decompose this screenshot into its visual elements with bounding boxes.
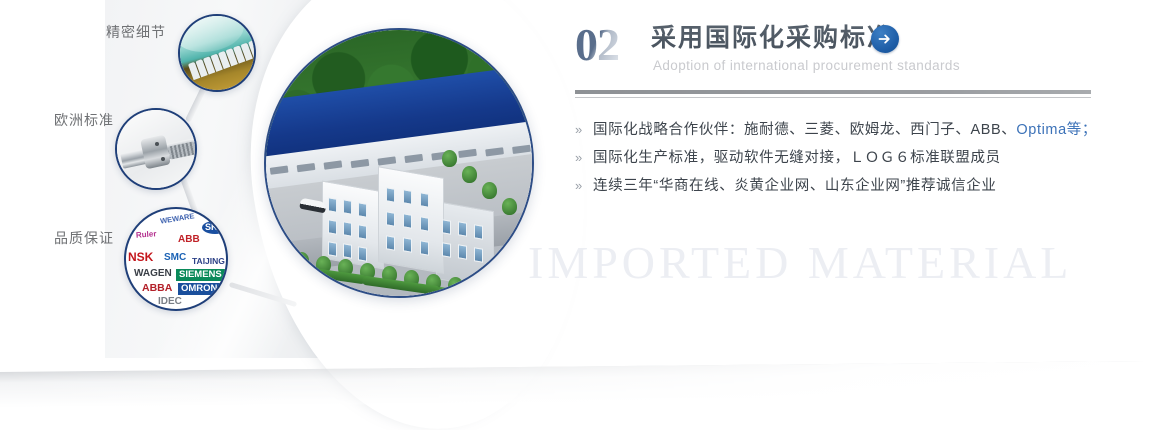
arrow-right-icon[interactable] bbox=[871, 25, 899, 53]
side-label-quality-assurance: 品质保证 bbox=[54, 228, 114, 248]
gear-macro-photo-bubble bbox=[178, 14, 256, 92]
photo-office-window bbox=[420, 240, 429, 256]
bullet-text-highlight: Optima等； bbox=[1016, 122, 1097, 138]
photo-office-window bbox=[386, 187, 395, 203]
brand-logo-weware: WEWARE bbox=[160, 212, 195, 225]
brand-logo-nsk: NSK bbox=[128, 251, 153, 263]
photo-factory-window bbox=[512, 144, 531, 153]
photo-office-window bbox=[458, 245, 467, 261]
photo-office-window bbox=[328, 241, 337, 257]
bullet-text: 国际化生产标准，驱动软件无缝对接，ＬＯＧ６标准联盟成员 bbox=[593, 146, 1001, 167]
photo-office-window bbox=[403, 190, 412, 206]
section-header: 02 采用国际化采购标准 Adoption of international p… bbox=[575, 20, 1095, 94]
brand-logo-idec: IDEC bbox=[158, 297, 182, 307]
divider-thin-line bbox=[575, 97, 1091, 98]
bullet-text: 国际化战略合作伙伴：施耐德、三菱、欧姆龙、西门子、ABB、Optima等； bbox=[593, 118, 1097, 139]
bottom-shadow-band bbox=[0, 361, 1150, 408]
brand-logo-siemens: SIEMENS bbox=[176, 269, 225, 281]
brand-logo-taijing: TAIJING bbox=[192, 257, 225, 266]
brand-logo-sko: SKO bbox=[202, 221, 228, 234]
bullet-text-main: 国际化生产标准，驱动软件无缝对接，ＬＯＧ６标准联盟成员 bbox=[593, 150, 1001, 166]
photo-factory-window bbox=[324, 161, 343, 170]
chevron-right-icon: » bbox=[575, 123, 593, 136]
section-number: 02 bbox=[575, 22, 619, 68]
photo-office-window bbox=[458, 222, 467, 238]
brand-logo-cloud-bubble: WEWARESKORulerABBNSKSMCTAIJINGWAGENSIEME… bbox=[124, 207, 228, 311]
photo-office-window bbox=[420, 216, 429, 232]
photo-office-window bbox=[474, 247, 483, 263]
content-column: 02 采用国际化采购标准 Adoption of international p… bbox=[575, 20, 1095, 94]
ball-screw-photo-bubble bbox=[115, 108, 197, 190]
photo-office-window bbox=[420, 192, 429, 208]
bullet-text-main: 连续三年“华商在线、炎黄企业网、山东企业网”推荐诚信企业 bbox=[593, 178, 996, 194]
photo-office-window bbox=[328, 197, 337, 213]
photo-office-window bbox=[358, 224, 367, 240]
photo-office-window bbox=[386, 235, 395, 251]
photo-office-window bbox=[358, 202, 367, 218]
photo-tree bbox=[462, 166, 477, 183]
brand-logo-abb: ABB bbox=[178, 235, 200, 245]
photo-tree bbox=[442, 150, 457, 167]
side-label-european-standard: 欧洲标准 bbox=[54, 110, 114, 130]
brand-logo-ruler: Ruler bbox=[136, 230, 157, 239]
photo-factory-window bbox=[485, 147, 504, 156]
brand-logo-smc: SMC bbox=[164, 253, 186, 263]
brand-logo-wagen: WAGEN bbox=[134, 269, 172, 279]
brand-logo-list: WEWARESKORulerABBNSKSMCTAIJINGWAGENSIEME… bbox=[126, 209, 226, 309]
photo-office-window bbox=[386, 211, 395, 227]
photo-office-window bbox=[403, 238, 412, 254]
section-title-cn: 采用国际化采购标准 bbox=[651, 22, 894, 55]
bullet-text: 连续三年“华商在线、炎黄企业网、山东企业网”推荐诚信企业 bbox=[593, 174, 996, 195]
photo-office-window bbox=[403, 214, 412, 230]
photo-office-window bbox=[474, 224, 483, 240]
chevron-right-icon: » bbox=[575, 179, 593, 192]
photo-factory-window bbox=[458, 149, 477, 158]
photo-factory-window bbox=[351, 158, 370, 167]
shaft-hole-b bbox=[161, 157, 165, 161]
photo-office-window bbox=[442, 242, 451, 258]
chevron-right-icon: » bbox=[575, 151, 593, 164]
header-divider bbox=[575, 90, 1091, 98]
section-title-en: Adoption of international procurement st… bbox=[653, 58, 960, 73]
factory-aerial-photo bbox=[264, 28, 534, 298]
brand-logo-omron: OMRON bbox=[178, 283, 220, 295]
photo-factory-window bbox=[377, 156, 396, 165]
bullet-item: »连续三年“华商在线、炎黄企业网、山东企业网”推荐诚信企业 bbox=[575, 174, 1095, 202]
photo-tree bbox=[482, 182, 497, 199]
photo-office-window bbox=[328, 219, 337, 235]
bullet-list: »国际化战略合作伙伴：施耐德、三菱、欧姆龙、西门子、ABB、Optima等；»国… bbox=[575, 118, 1095, 202]
photo-office-window bbox=[442, 219, 451, 235]
photo-factory-window bbox=[297, 163, 316, 172]
bullet-text-main: 国际化战略合作伙伴：施耐德、三菱、欧姆龙、西门子、ABB、 bbox=[593, 122, 1016, 138]
page-root: 精密细节 欧洲标准 品质保证 WEWARESKORulerABBNSKSMCTA… bbox=[0, 0, 1150, 430]
photo-factory-window bbox=[404, 154, 423, 163]
watermark-text: IMPORTED MATERIAL bbox=[528, 236, 1128, 289]
bullet-item: »国际化生产标准，驱动软件无缝对接，ＬＯＧ６标准联盟成员 bbox=[575, 146, 1095, 174]
photo-office-window bbox=[343, 244, 352, 260]
photo-office-window bbox=[343, 200, 352, 216]
divider-thick-line bbox=[575, 90, 1091, 94]
photo-office-window bbox=[358, 246, 367, 262]
brand-logo-abba: ABBA bbox=[142, 283, 172, 294]
bullet-item: »国际化战略合作伙伴：施耐德、三菱、欧姆龙、西门子、ABB、Optima等； bbox=[575, 118, 1095, 146]
photo-factory-window bbox=[270, 165, 289, 174]
side-label-precision: 精密细节 bbox=[106, 22, 166, 42]
photo-tree bbox=[502, 198, 517, 215]
shaft-hole-a bbox=[155, 142, 159, 146]
photo-office-window bbox=[343, 222, 352, 238]
